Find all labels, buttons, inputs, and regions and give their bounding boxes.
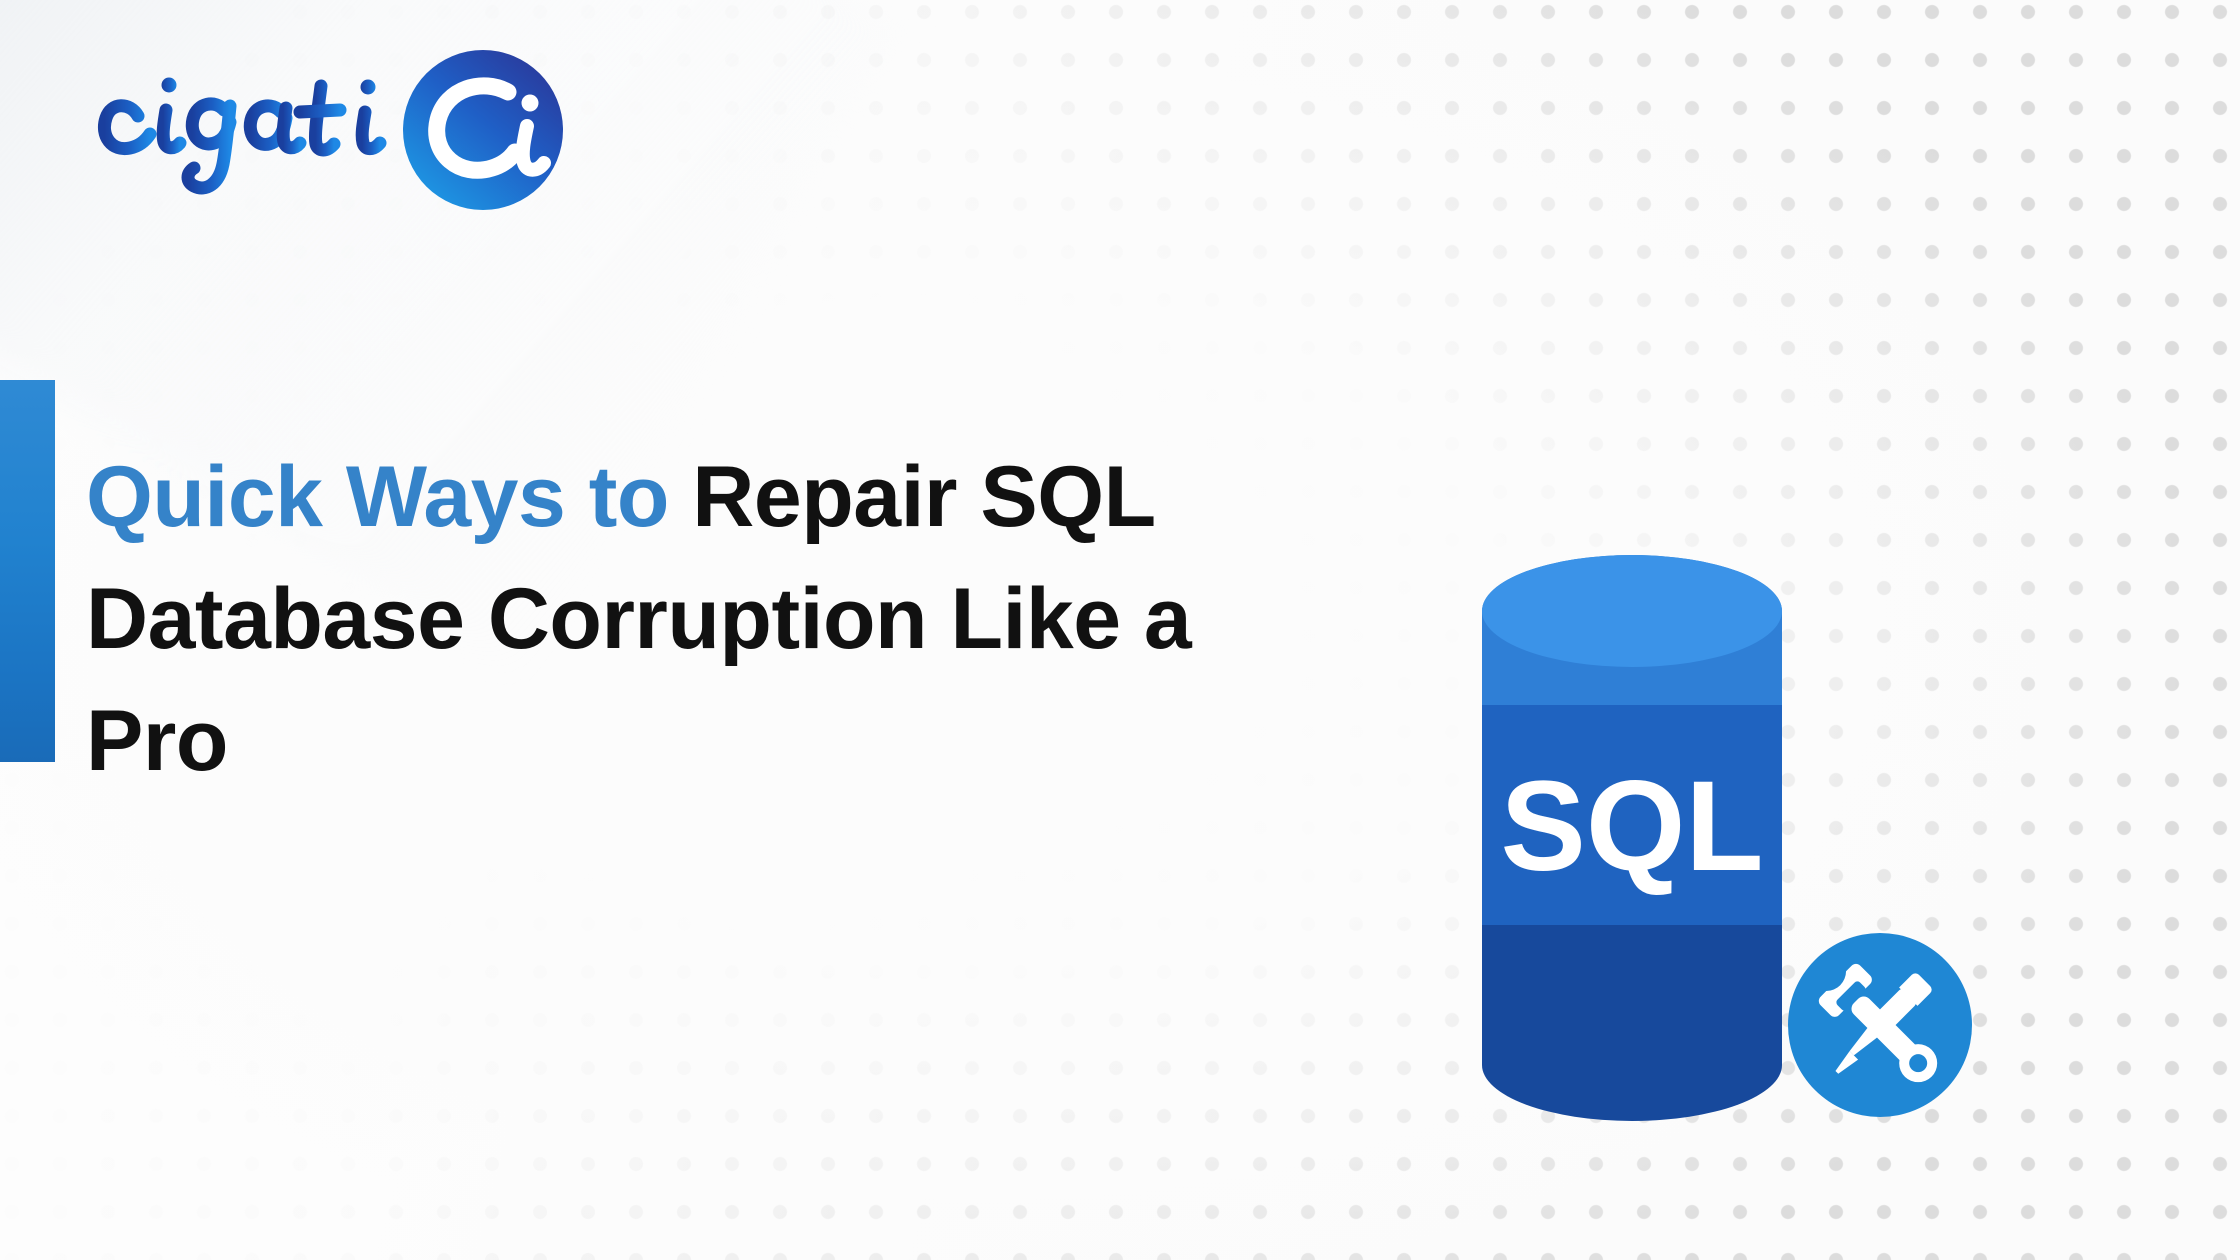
sql-database-illustration: SQL [1462, 545, 2022, 1145]
page-title: Quick Ways to Repair SQL Database Corrup… [86, 436, 1336, 802]
repair-tools-badge [1788, 933, 1972, 1117]
ci-badge-icon [403, 50, 563, 210]
headline-accent-text: Quick Ways to [86, 449, 692, 545]
database-cylinder-top [1482, 555, 1782, 667]
cigati-logo[interactable] [78, 30, 598, 220]
sql-label: SQL [1500, 755, 1763, 898]
banner-canvas: Quick Ways to Repair SQL Database Corrup… [0, 0, 2240, 1260]
wordmark-cigati [104, 78, 380, 188]
left-accent-bar [0, 380, 55, 762]
